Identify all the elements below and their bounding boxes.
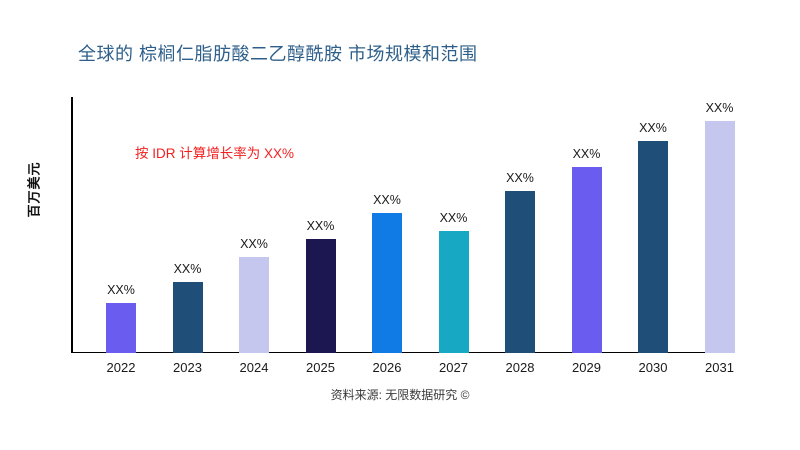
bar[interactable] [372, 213, 402, 353]
bar[interactable] [173, 282, 203, 353]
x-axis-tick-2028: 2028 [500, 360, 540, 375]
bar-group: XX% [168, 97, 208, 353]
bar-group: XX% [234, 97, 274, 353]
x-axis-tick-2025: 2025 [301, 360, 341, 375]
bar[interactable] [638, 141, 668, 353]
bar-group: XX% [633, 97, 673, 353]
bar-group: XX% [567, 97, 607, 353]
bar[interactable] [705, 121, 735, 353]
bar-value-label: XX% [101, 283, 141, 297]
bar[interactable] [505, 191, 535, 353]
y-axis-label: 百万美元 [24, 135, 43, 245]
bar-group: XX% [500, 97, 540, 353]
chart-container: 全球的 棕榈仁脂肪酸二乙醇酰胺 市场规模和范围 百万美元 XX%XX%XX%XX… [0, 0, 800, 450]
bar-value-label: XX% [434, 211, 474, 225]
y-axis-line [71, 97, 73, 353]
bar-value-label: XX% [567, 147, 607, 161]
bar-group: XX% [101, 97, 141, 353]
bar-group: XX% [301, 97, 341, 353]
bar[interactable] [439, 231, 469, 353]
growth-rate-annotation: 按 IDR 计算增长率为 XX% [135, 142, 294, 162]
plot-area: XX%XX%XX%XX%XX%XX%XX%XX%XX%XX% [71, 97, 717, 353]
bar-value-label: XX% [700, 101, 740, 115]
bar-value-label: XX% [633, 121, 673, 135]
x-axis-tick-2023: 2023 [168, 360, 208, 375]
bar-group: XX% [700, 97, 740, 353]
bar[interactable] [572, 167, 602, 353]
source-note: 资料来源: 无限数据研究 © [0, 386, 800, 403]
x-axis-tick-2031: 2031 [700, 360, 740, 375]
x-axis-tick-labels: 2022202320242025202620272028202920302031 [71, 360, 771, 380]
bar[interactable] [306, 239, 336, 353]
bar-value-label: XX% [367, 193, 407, 207]
bar[interactable] [106, 303, 136, 353]
bar-value-label: XX% [500, 171, 540, 185]
bar-value-label: XX% [234, 237, 274, 251]
x-axis-tick-2022: 2022 [101, 360, 141, 375]
bar-group: XX% [434, 97, 474, 353]
x-axis-tick-2027: 2027 [434, 360, 474, 375]
bar-group: XX% [367, 97, 407, 353]
x-axis-tick-2026: 2026 [367, 360, 407, 375]
bar-value-label: XX% [168, 262, 208, 276]
x-axis-tick-2029: 2029 [567, 360, 607, 375]
x-axis-tick-2030: 2030 [633, 360, 673, 375]
page-title: 全球的 棕榈仁脂肪酸二乙醇酰胺 市场规模和范围 [78, 40, 478, 66]
bar[interactable] [239, 257, 269, 353]
x-axis-tick-2024: 2024 [234, 360, 274, 375]
bar-value-label: XX% [301, 219, 341, 233]
